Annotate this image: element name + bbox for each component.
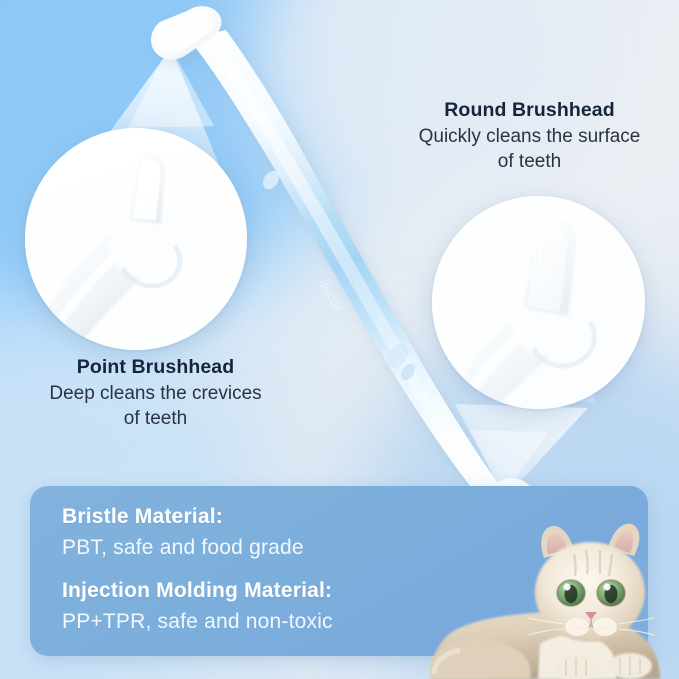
round-brushhead-closeup-image xyxy=(432,196,645,409)
handle-emboss-text: diucail xyxy=(315,277,345,313)
callout-round-brushhead-line1: Quickly cleans the surface xyxy=(382,125,677,150)
callout-point-brushhead: Point Brushhead Deep cleans the crevices… xyxy=(8,355,303,432)
callout-round-brushhead-title: Round Brushhead xyxy=(382,98,677,122)
zoom-circle-point-brushhead xyxy=(25,128,247,350)
spec-label-bristle-material: Bristle Material: xyxy=(62,504,304,529)
zoom-circle-round-brushhead xyxy=(432,196,645,409)
spec-value-bristle-material: PBT, safe and food grade xyxy=(62,535,304,560)
infographic-canvas: diucail xyxy=(0,0,679,679)
spec-value-injection-molding-material: PP+TPR, safe and non-toxic xyxy=(62,609,333,634)
spec-label-injection-molding-material: Injection Molding Material: xyxy=(62,578,333,603)
callout-point-brushhead-line2: of teeth xyxy=(8,407,303,432)
spec-row-injection-molding-material: Injection Molding Material: PP+TPR, safe… xyxy=(62,578,333,634)
material-specs-panel: Bristle Material: PBT, safe and food gra… xyxy=(30,486,648,656)
point-brushhead-closeup-image xyxy=(25,128,247,350)
callout-round-brushhead: Round Brushhead Quickly cleans the surfa… xyxy=(382,98,677,175)
callout-point-brushhead-line1: Deep cleans the crevices xyxy=(8,382,303,407)
spec-row-bristle-material: Bristle Material: PBT, safe and food gra… xyxy=(62,504,304,560)
callout-point-brushhead-title: Point Brushhead xyxy=(8,355,303,379)
callout-round-brushhead-line2: of teeth xyxy=(382,150,677,175)
